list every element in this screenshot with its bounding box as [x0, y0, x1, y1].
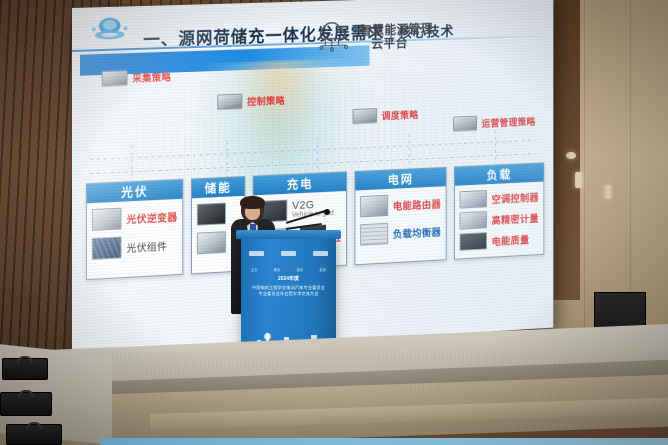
column-pv-label-0: 光伏逆变器 — [126, 208, 177, 225]
wall-sconce-1 — [575, 172, 582, 188]
management-server-icon — [453, 116, 477, 131]
podium-conference-title: 2024年度 中国电机工程学会电动汽车专业委员会 专业委员会年会暨学术交流大会 — [247, 276, 330, 297]
strategy-label-0: 采集策略 — [132, 69, 171, 84]
podium-organizer-row: 主办 承办 协办 支持 — [251, 267, 326, 272]
case-handle-2 — [18, 390, 34, 397]
ac-controller-icon — [460, 190, 488, 209]
gateway-device-icon — [353, 108, 377, 124]
inverter-cabinet-icon — [92, 208, 122, 231]
flight-case-icon-2 — [0, 392, 52, 416]
column-load-item-2: 电能质量 — [460, 229, 539, 250]
column-load-label-0: 空调控制器 — [492, 189, 539, 206]
column-grid-item-0: 电能路由器 — [360, 192, 441, 217]
strategy-label-1: 控制策略 — [247, 93, 285, 108]
bottom-blue-strip — [100, 438, 668, 445]
case-handle-3 — [26, 422, 42, 429]
column-load: 负载 空调控制器 高精密计量 电能质量 — [454, 162, 544, 259]
podium-organizer-3: 支持 — [319, 267, 326, 272]
column-pv-label-1: 光伏组件 — [126, 238, 167, 255]
strategy-item-3: 运营管理策略 — [453, 113, 536, 131]
presenter-hair — [240, 196, 265, 209]
flight-case-icon-1 — [2, 358, 48, 380]
connector-line-v2 — [227, 141, 228, 178]
column-grid: 电网 电能路由器 负载均衡器 — [354, 167, 446, 265]
strategy-item-0: 采集策略 — [102, 69, 171, 86]
controller-rack-icon — [217, 94, 242, 110]
podium-title-line2: 专业委员会年会暨学术交流大会 — [247, 291, 330, 297]
wall-sconce-3 — [566, 152, 576, 159]
strategy-item-1: 控制策略 — [217, 92, 285, 109]
podium-year: 2024年度 — [247, 276, 330, 284]
podium-title-line1: 中国电机工程学会电动汽车专业委员会 — [247, 285, 330, 291]
smart-meter-icon — [102, 70, 128, 86]
precision-meter-icon — [460, 211, 488, 230]
column-pv-item-0: 光伏逆变器 — [92, 205, 178, 231]
cloud-label-line2: 云平台 — [360, 36, 433, 52]
energy-router-icon — [360, 195, 388, 218]
sponsor-logo-2 — [281, 251, 296, 256]
podium-organizer-1: 承办 — [274, 267, 281, 272]
power-quality-icon — [460, 232, 488, 251]
column-pv-item-1: 光伏组件 — [92, 234, 178, 260]
strategy-label-3: 运营管理策略 — [482, 114, 536, 130]
column-grid-label-1: 负载均衡器 — [393, 223, 441, 240]
podium-organizer-2: 协办 — [296, 267, 303, 272]
title-number: 一、 — [143, 30, 178, 50]
solar-panel-icon — [92, 236, 122, 259]
connector-line-v1 — [131, 145, 132, 183]
column-load-label-1: 高精密计量 — [492, 210, 539, 227]
podium-organizer-0: 主办 — [251, 267, 258, 272]
pcs-icon — [197, 231, 226, 254]
sponsor-logo-1 — [249, 251, 264, 256]
cloud-iot-icon — [313, 21, 355, 55]
column-grid-label-0: 电能路由器 — [393, 196, 441, 213]
screenshot-root: 一、源网荷储充一体化发展需求|核心技术 智慧能源管理 — [0, 0, 668, 445]
column-load-item-1: 高精密计量 — [460, 208, 539, 229]
load-balancer-icon — [360, 223, 388, 246]
podium-sponsor-logos — [249, 250, 328, 257]
battery-cabinet-icon — [197, 203, 226, 226]
sponsor-logo-3 — [313, 251, 328, 256]
connector-line-v3 — [317, 138, 318, 175]
column-grid-item-1: 负载均衡器 — [360, 220, 441, 246]
column-load-label-2: 电能质量 — [492, 231, 530, 247]
flight-case-icon-3 — [6, 424, 62, 445]
connector-line-v5 — [495, 130, 496, 166]
connector-line-v4 — [409, 134, 410, 171]
cloud-label-line1: 智慧能源管理 — [360, 22, 433, 38]
microphone-head-icon — [324, 209, 330, 215]
skyline-tower-ball — [264, 333, 271, 340]
cloud-platform-block: 智慧能源管理 云平台 — [313, 19, 433, 56]
podium-top-surface — [236, 230, 341, 239]
column-load-item-0: 空调控制器 — [460, 187, 539, 208]
wall-sconce-2 — [605, 185, 611, 199]
strategy-item-2: 调度策略 — [353, 106, 419, 123]
slide-logo-icon — [88, 16, 131, 43]
strategy-label-2: 调度策略 — [382, 107, 419, 122]
case-handle-1 — [17, 356, 33, 363]
column-pv: 光伏 光伏逆变器 光伏组件 — [86, 179, 183, 280]
cloud-platform-label: 智慧能源管理 云平台 — [360, 22, 433, 52]
